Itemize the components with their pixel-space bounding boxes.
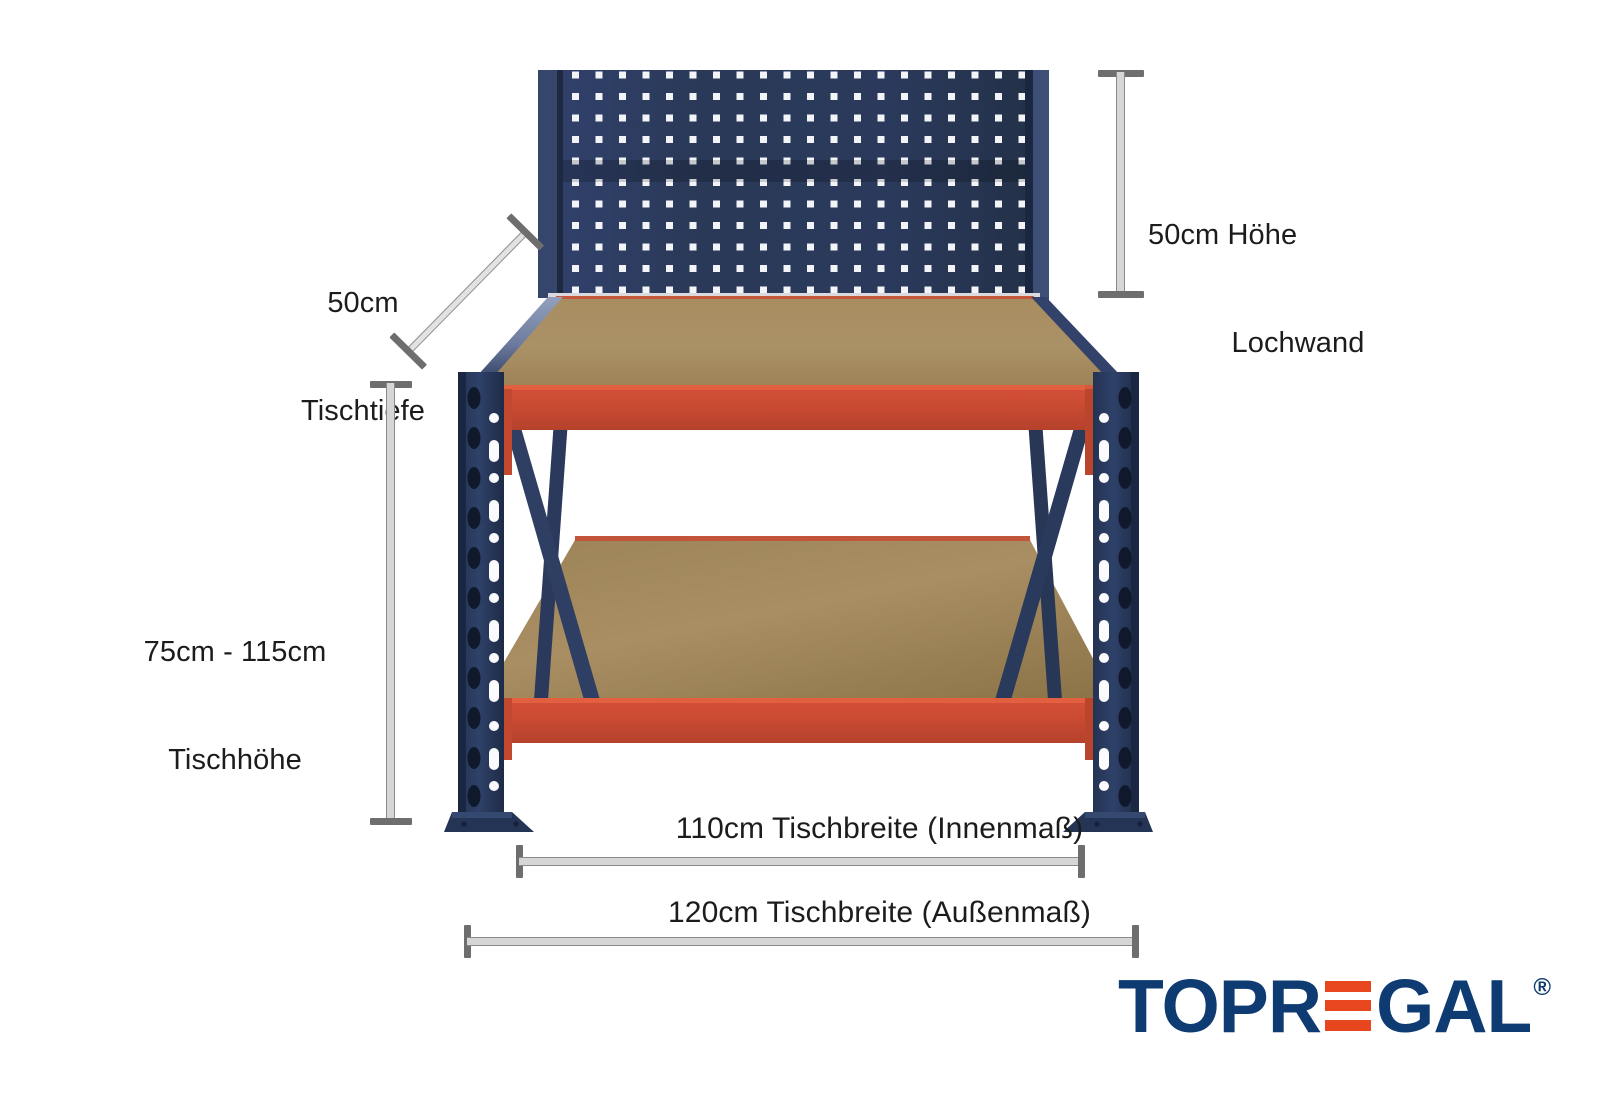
dim-shaft <box>386 383 395 821</box>
dim-shaft <box>1116 72 1125 294</box>
label-line-2: Tischhöhe <box>110 742 360 778</box>
label-width-outer: 120cm Tischbreite (Außenmaß) <box>0 894 1599 932</box>
table-top-board <box>473 299 1122 391</box>
pegboard-panel <box>538 70 1049 302</box>
registered-trademark-icon: ® <box>1533 974 1551 1002</box>
label-pegboard-height: 50cm Höhe Lochwand <box>1148 144 1478 434</box>
label-line-1: 75cm - 115cm <box>110 634 360 670</box>
label-line-1: 50cm <box>268 285 458 321</box>
product-dimension-diagram: 50cm Höhe Lochwand 50cm Tischtiefe 75cm … <box>0 0 1599 1100</box>
label-line-1: 50cm Höhe <box>1148 217 1478 253</box>
label-line-2: Lochwand <box>1148 325 1448 361</box>
dim-shaft <box>467 937 1135 946</box>
lower-beam <box>481 698 1116 760</box>
dim-cap-right <box>1132 925 1139 958</box>
logo-text-pre: TOPR <box>1118 969 1321 1044</box>
dim-cap-right <box>1078 845 1085 878</box>
dim-shaft <box>519 857 1081 866</box>
logo-text-post: GAL <box>1376 969 1531 1044</box>
label-line-2: Tischtiefe <box>268 393 458 429</box>
dim-cap-bottom <box>1098 291 1144 298</box>
logo-e-bars-icon <box>1325 979 1371 1033</box>
topregal-logo: TOPR GAL ® <box>1118 968 1551 1044</box>
upper-beam <box>481 385 1116 475</box>
label-table-depth: 50cm Tischtiefe <box>268 212 458 502</box>
label-table-height: 75cm - 115cm Tischhöhe <box>110 561 360 851</box>
label-width-inner: 110cm Tischbreite (Innenmaß) <box>0 810 1599 848</box>
